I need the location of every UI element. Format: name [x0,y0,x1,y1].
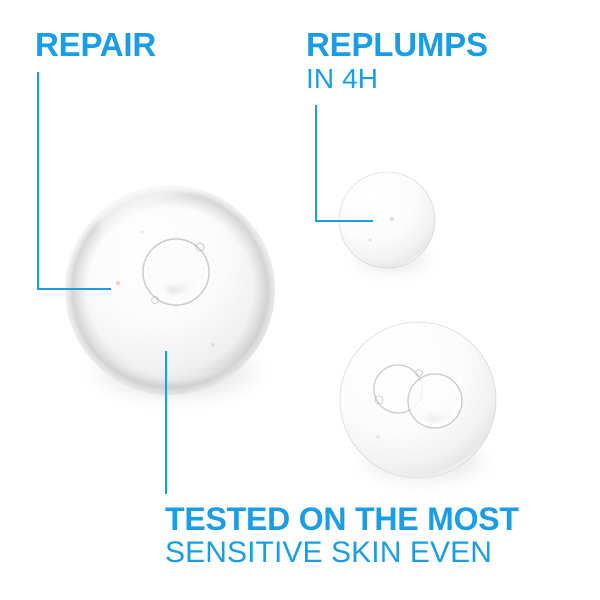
lower-right-droplet [340,322,502,488]
claim-label-tested: TESTED ON THE MOST SENSITIVE SKIN EVEN [165,503,519,568]
leader-line-replumps-vertical [315,105,317,222]
leader-line-repair-vertical [37,72,39,290]
large-gel-droplet [65,184,280,408]
claim-replumps-subline: IN 4H [306,64,488,93]
claim-repair-headline: REPAIR [35,28,156,62]
medium-clear-droplet [339,172,440,275]
leader-line-replumps-horizontal [315,220,373,222]
claim-tested-headline: TESTED ON THE MOST [165,503,519,536]
claim-label-repair: REPAIR [35,28,156,62]
infographic-canvas: REPAIR REPLUMPS IN 4H TESTED ON THE MOST… [0,0,600,600]
leader-line-repair-horizontal [37,288,111,290]
large-droplet-inner-bubble [143,239,209,305]
claim-replumps-headline: REPLUMPS [306,28,488,62]
claim-label-replumps: REPLUMPS IN 4H [306,28,488,93]
claim-tested-subline: SENSITIVE SKIN EVEN [165,537,519,568]
leader-line-tested-vertical [165,351,167,494]
